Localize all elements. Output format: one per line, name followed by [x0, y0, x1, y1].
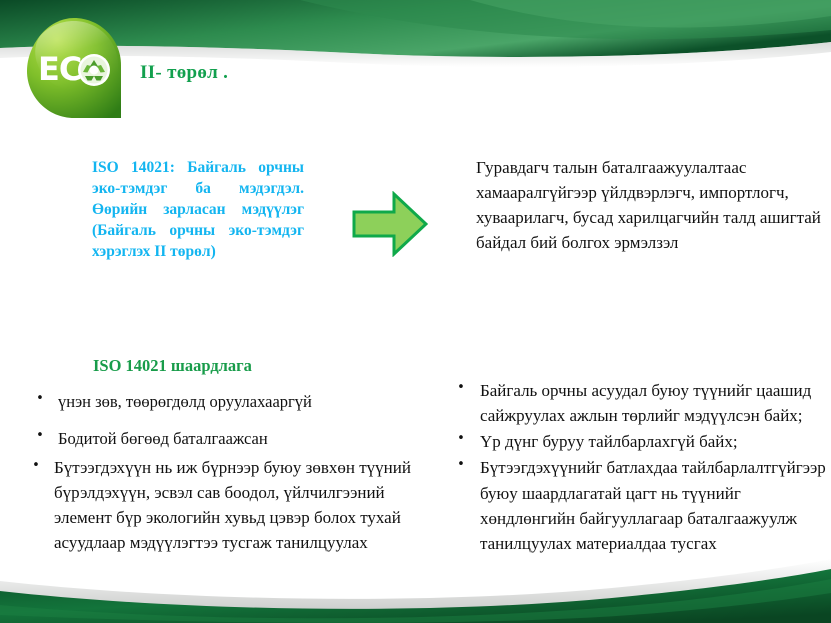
- svg-text:EC: EC: [38, 50, 81, 88]
- list-item: • Бүтээгдэхүүнийг батлахдаа тайлбарлалтг…: [450, 455, 831, 556]
- list-item: • Бүтээгдэхүүн нь иж бүрнээр буюу зөвхөн…: [22, 456, 442, 556]
- eco-logo: EC: [22, 14, 126, 126]
- list-item: • Байгаль орчны асуудал буюу түүнийг цаа…: [450, 378, 831, 428]
- list-item-label: үнэн зөв, төөрөгдөлд оруулахааргүй: [58, 390, 438, 414]
- bullet-icon: •: [455, 455, 467, 474]
- list-item-label: Бодитой бөгөөд баталгаажсан: [58, 427, 438, 451]
- bullet-icon: •: [30, 456, 42, 475]
- list-item-label: Бүтээгдэхүүн нь иж бүрнээр буюу зөвхөн т…: [54, 456, 442, 556]
- list-item: • Бодитой бөгөөд баталгаажсан: [28, 427, 438, 451]
- requirements-left-list-b: • Бүтээгдэхүүн нь иж бүрнээр буюу зөвхөн…: [22, 456, 442, 556]
- requirements-heading: ISO 14021 шаардлага: [93, 356, 252, 376]
- list-item-label: Байгаль орчны асуудал буюу түүнийг цааши…: [480, 378, 831, 428]
- bullet-icon: •: [455, 378, 467, 397]
- bullet-icon: •: [34, 390, 46, 409]
- bullet-icon: •: [455, 429, 467, 448]
- list-item-label: Бүтээгдэхүүнийг батлахдаа тайлбарлалтгүй…: [480, 455, 831, 556]
- requirements-left-list-a: • үнэн зөв, төөрөгдөлд оруулахааргүй • Б…: [28, 390, 438, 464]
- footer-green-wave: [0, 553, 831, 623]
- bullet-icon: •: [34, 427, 46, 446]
- page-title: II- төрөл .: [140, 62, 228, 84]
- requirements-right-list: • Байгаль орчны асуудал буюу түүнийг цаа…: [450, 378, 831, 557]
- iso-definition-text: ISO 14021: Байгаль орчны эко-тэмдэг ба м…: [92, 157, 304, 262]
- third-party-description: Гуравдагч талын баталгаажуулалтаас хамаа…: [476, 156, 826, 256]
- presentation-slide: EC II- төрөл . ISO 14021: Байгаль орчны …: [0, 0, 831, 623]
- recycle-icon: [78, 54, 110, 86]
- list-item: • үнэн зөв, төөрөгдөлд оруулахааргүй: [28, 390, 438, 414]
- arrow-right-icon: [352, 191, 428, 257]
- list-item-label: Үр дүнг буруу тайлбарлахгүй байх;: [480, 429, 831, 454]
- list-item: • Үр дүнг буруу тайлбарлахгүй байх;: [450, 429, 831, 454]
